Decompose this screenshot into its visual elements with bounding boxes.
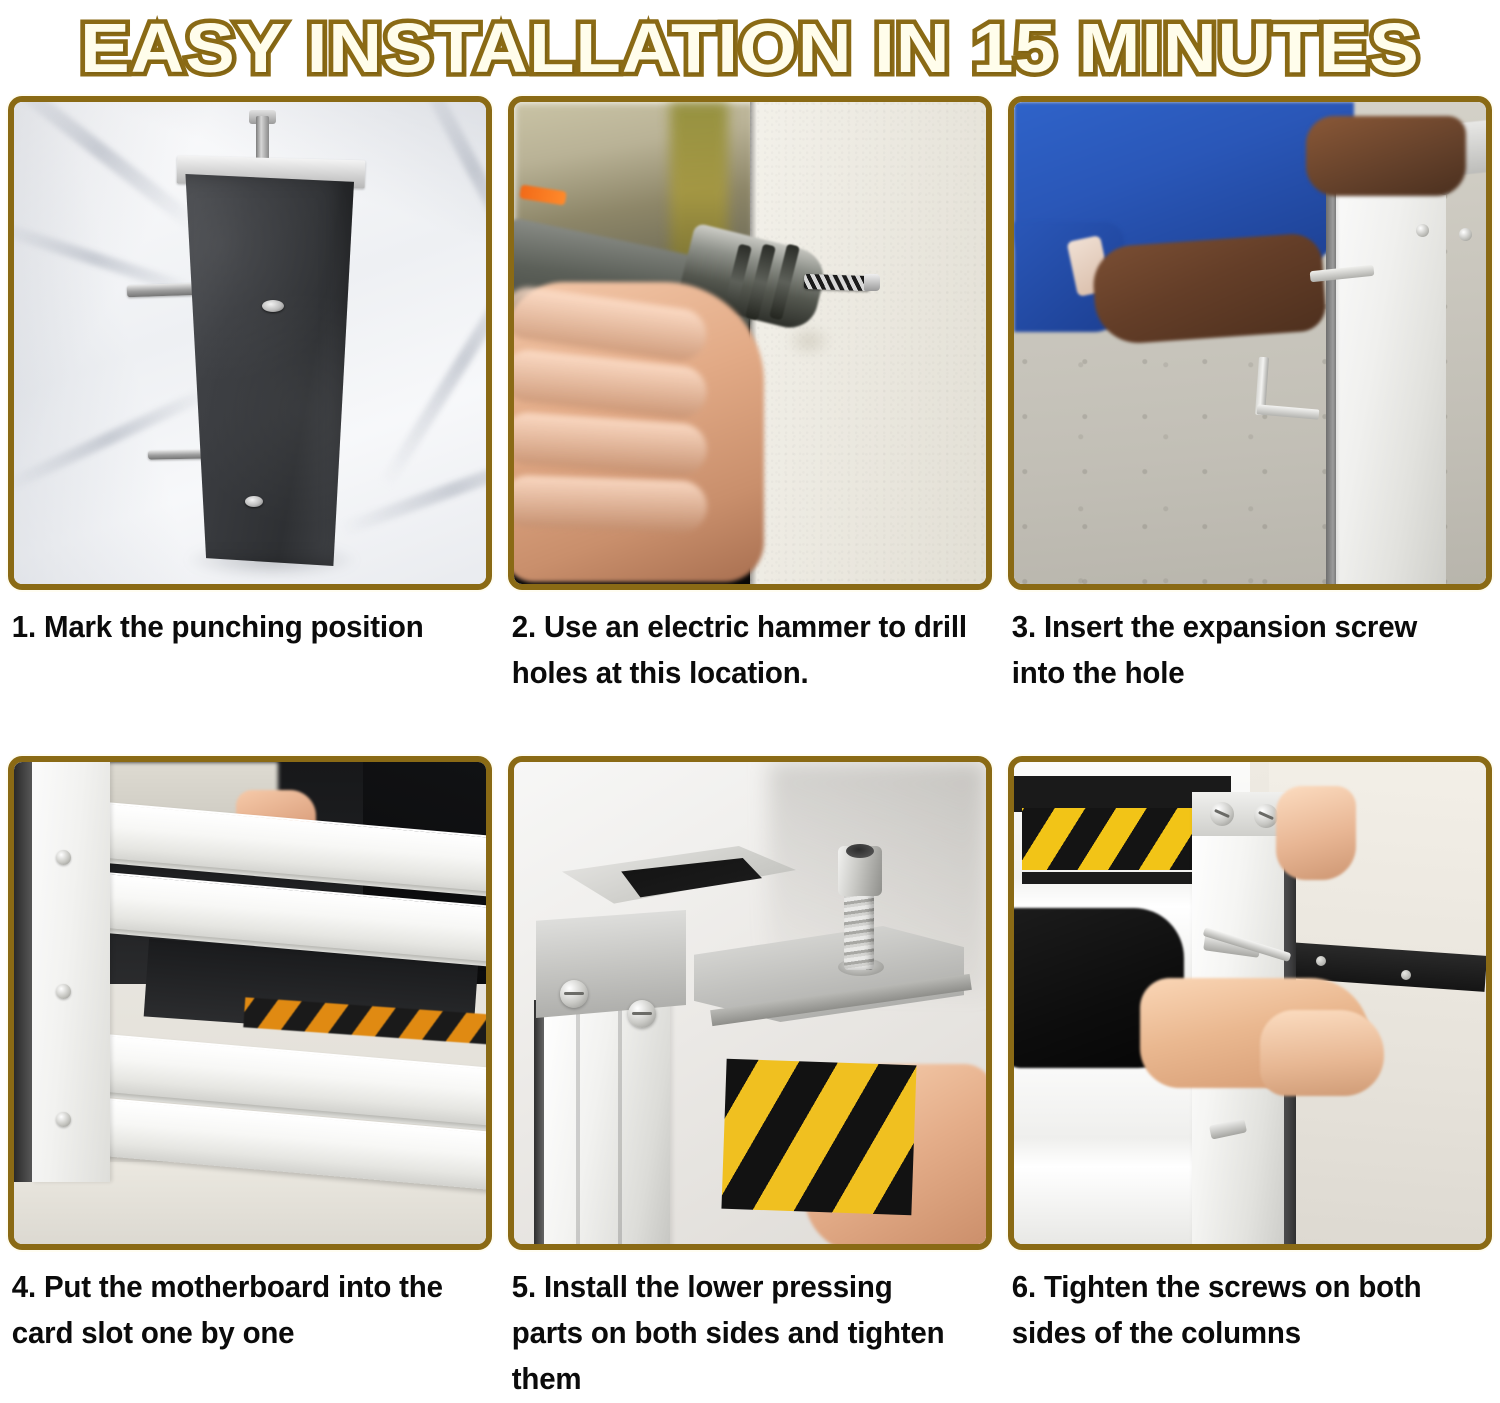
step-card-6: 6. Tighten the screws on both sides of t… <box>1008 756 1492 1356</box>
step-caption-5: 5. Install the lower pressing parts on b… <box>508 1264 968 1402</box>
punch-hole-upper <box>262 300 284 312</box>
card-slot-post <box>32 762 110 1182</box>
step-photo-2 <box>514 102 986 584</box>
step-photo-frame-5 <box>508 756 992 1250</box>
step-caption-3: 3. Insert the expansion screw into the h… <box>1008 604 1468 696</box>
bolt-socket <box>846 844 874 858</box>
step-photo-6 <box>1014 762 1486 1244</box>
installation-guide-page: EASY INSTALLATION IN 15 MINUTES <box>0 0 1500 1403</box>
step-photo-frame-4 <box>8 756 492 1250</box>
rail-screw <box>1401 970 1411 980</box>
step-photo-3 <box>1014 102 1486 584</box>
bracket-front-face <box>536 910 686 1018</box>
column-post <box>182 174 354 566</box>
bracket-screw <box>560 980 588 1008</box>
step-card-4: 4. Put the motherboard into the card slo… <box>8 756 492 1356</box>
step-card-2: 2. Use an electric hammer to drill holes… <box>508 96 992 696</box>
post-dark-edge <box>14 762 32 1182</box>
mounting-pin-upper <box>127 283 199 298</box>
hazard-stripe <box>721 1059 916 1216</box>
step-photo-frame-3 <box>1008 96 1492 590</box>
post-screw <box>56 850 71 865</box>
worker-hand-upper <box>1306 116 1466 196</box>
fingers <box>1260 1010 1384 1096</box>
steps-row-top: 1. Mark the punching position <box>0 96 1500 756</box>
hazard-stripe <box>1022 808 1200 870</box>
drill-bit <box>804 274 870 291</box>
bolt-thread <box>844 888 874 970</box>
page-title: EASY INSTALLATION IN 15 MINUTES <box>80 11 1420 85</box>
step-photo-frame-1 <box>8 96 492 590</box>
step-photo-4 <box>14 762 486 1244</box>
drill-dust <box>786 324 832 358</box>
hazard-edge-band <box>1022 872 1200 884</box>
column-groove <box>576 1000 580 1244</box>
step-caption-4: 4. Put the motherboard into the card slo… <box>8 1264 468 1356</box>
steps-row-bottom: 4. Put the motherboard into the card slo… <box>0 756 1500 1403</box>
title-banner: EASY INSTALLATION IN 15 MINUTES <box>0 0 1500 96</box>
column-screw <box>1254 804 1278 828</box>
step-caption-6: 6. Tighten the screws on both sides of t… <box>1008 1264 1468 1356</box>
column-screw <box>1210 802 1234 826</box>
step-card-3: 3. Insert the expansion screw into the h… <box>1008 96 1492 696</box>
step-photo-1 <box>14 102 486 584</box>
step-photo-5 <box>514 762 986 1244</box>
hand-upper <box>1276 786 1356 880</box>
step-card-1: 1. Mark the punching position <box>8 96 492 650</box>
column-groove <box>618 1000 622 1244</box>
drill-bit-tip <box>864 274 880 291</box>
step-card-5: 5. Install the lower pressing parts on b… <box>508 756 992 1402</box>
white-column <box>1336 128 1446 584</box>
white-column <box>544 1000 670 1244</box>
bracket-screw <box>628 1000 656 1028</box>
step-caption-1: 1. Mark the punching position <box>8 604 468 650</box>
expansion-screw <box>1416 224 1429 237</box>
expansion-screw <box>1459 228 1472 241</box>
post-screw <box>56 984 71 999</box>
punch-hole-lower <box>245 496 263 507</box>
finger <box>514 474 708 533</box>
step-photo-frame-2 <box>508 96 992 590</box>
step-caption-2: 2. Use an electric hammer to drill holes… <box>508 604 968 696</box>
post-texture <box>182 174 354 566</box>
post-screw <box>56 1112 71 1127</box>
steps-grid: 1. Mark the punching position <box>0 96 1500 1403</box>
worker-arm <box>1091 232 1327 346</box>
step-photo-frame-6 <box>1008 756 1492 1250</box>
